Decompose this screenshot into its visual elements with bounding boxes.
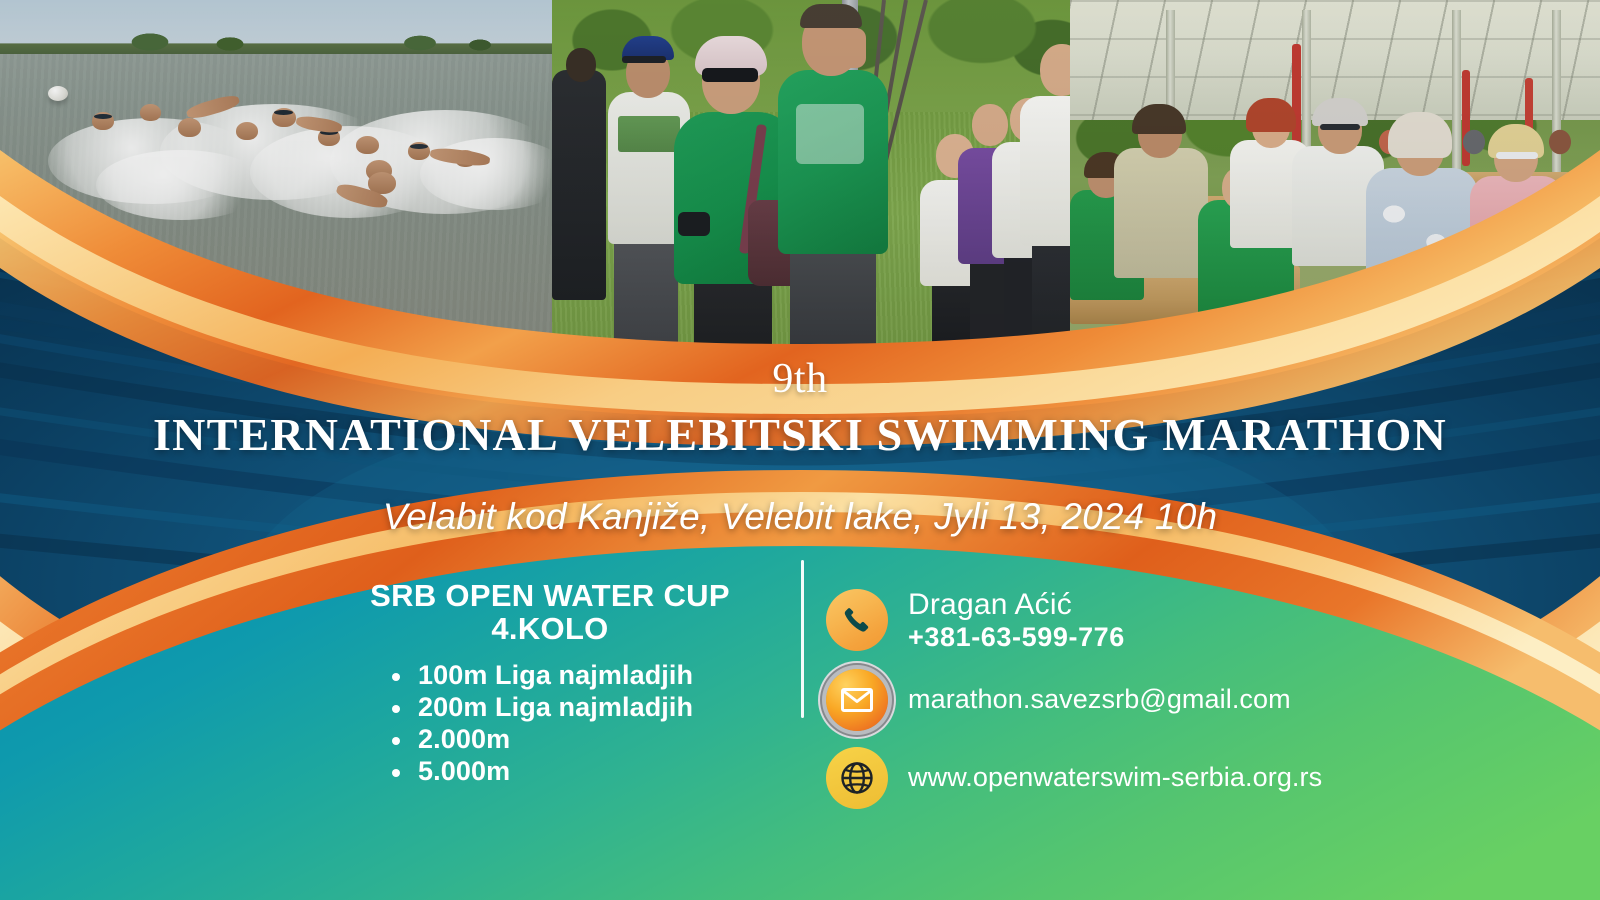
phone-icon xyxy=(826,589,888,651)
competition-heading-line2: 4.KOLO xyxy=(310,613,790,646)
contact-info: Dragan Aćić +381-63-599-776 marathon.sav… xyxy=(826,588,1322,809)
list-item: 2.000m xyxy=(418,723,800,755)
contact-person-name: Dragan Aćić xyxy=(908,588,1125,622)
contact-website-url: www.openwaterswim-serbia.org.rs xyxy=(908,763,1322,793)
list-item: 5.000m xyxy=(418,755,800,787)
contact-phone-row[interactable]: Dragan Aćić +381-63-599-776 xyxy=(826,588,1322,653)
website-text-group: www.openwaterswim-serbia.org.rs xyxy=(908,763,1322,793)
distance-list: 100m Liga najmladjih 200m Liga najmladji… xyxy=(300,659,800,788)
page-title: INTERNATIONAL VELEBITSKI SWIMMING MARATH… xyxy=(0,408,1600,462)
competition-heading: SRB OPEN WATER CUP 4.KOLO xyxy=(300,580,800,645)
poster-root: 9th INTERNATIONAL VELEBITSKI SWIMMING MA… xyxy=(0,0,1600,900)
title-block: 9th INTERNATIONAL VELEBITSKI SWIMMING MA… xyxy=(0,358,1600,538)
list-item: 100m Liga najmladjih xyxy=(418,659,800,691)
envelope-icon xyxy=(826,669,888,731)
globe-icon xyxy=(826,747,888,809)
competition-heading-line1: SRB OPEN WATER CUP xyxy=(370,578,730,613)
contact-email-address: marathon.savezsrb@gmail.com xyxy=(908,685,1291,715)
vertical-divider xyxy=(801,560,804,718)
edition-number: 9th xyxy=(0,358,1600,400)
email-text-group: marathon.savezsrb@gmail.com xyxy=(908,685,1291,715)
list-item: 200m Liga najmladjih xyxy=(418,691,800,723)
contact-email-row[interactable]: marathon.savezsrb@gmail.com xyxy=(826,669,1322,731)
contact-phone-number: +381-63-599-776 xyxy=(908,622,1125,653)
event-subtitle: Velabit kod Kanjiže, Velebit lake, Jyli … xyxy=(0,496,1600,538)
competition-info: SRB OPEN WATER CUP 4.KOLO 100m Liga najm… xyxy=(300,580,800,788)
contact-website-row[interactable]: www.openwaterswim-serbia.org.rs xyxy=(826,747,1322,809)
phone-text-group: Dragan Aćić +381-63-599-776 xyxy=(908,588,1125,653)
